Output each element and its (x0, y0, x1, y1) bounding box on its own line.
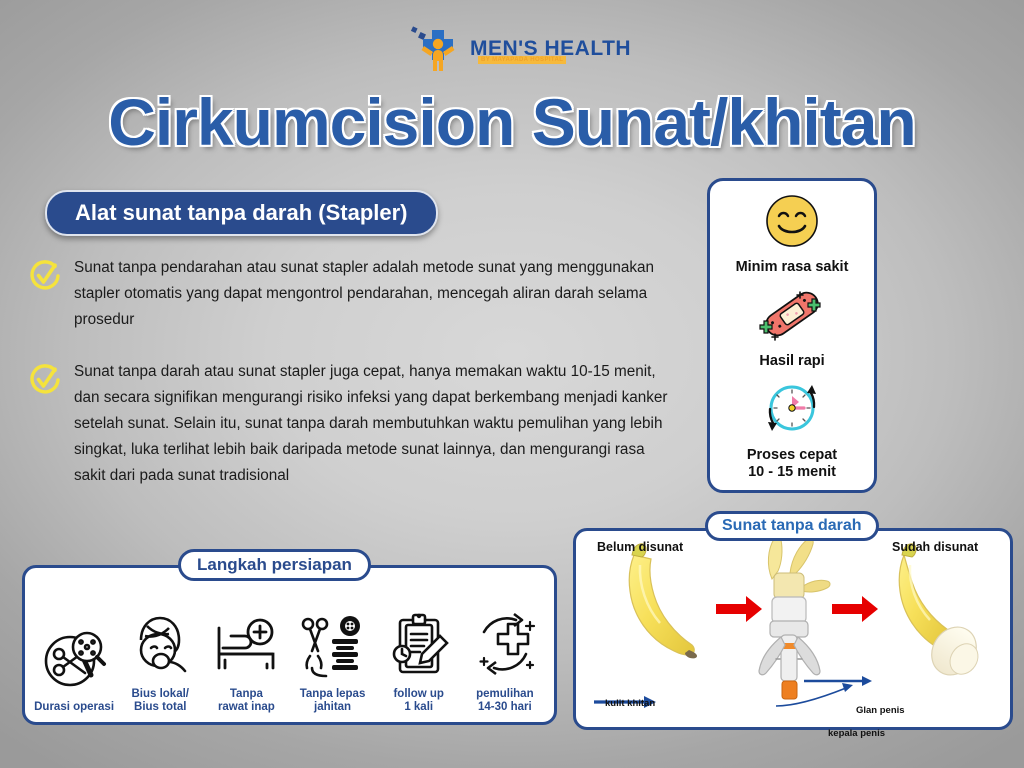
surgery-tools-magnifier-icon (39, 621, 109, 695)
prep-item: Durasi operasi (32, 621, 116, 714)
benefit-item: Minim rasa sakit (736, 191, 849, 276)
poster-canvas: MEN'S HEALTH BY MAYAPADA HOSPITAL Cirkum… (0, 0, 1024, 768)
annotation-kulit-khitan: kulit khitan (605, 698, 655, 709)
benefit-item: Hasil rapi (753, 283, 831, 370)
banana-circumcised (899, 544, 985, 684)
preparation-title: Langkah persiapan (178, 549, 371, 581)
clipboard-pen-icon (384, 608, 454, 682)
banana-whole (629, 544, 697, 659)
benefits-card: Minim rasa sakit Has (707, 178, 877, 493)
preparation-panel: Durasi operasi Bius lokal/ Bius total (22, 565, 557, 725)
prep-label: Tanpa lepas jahitan (300, 688, 366, 714)
banana-stapler-device (759, 536, 830, 699)
brand-logo: MEN'S HEALTH BY MAYAPADA HOSPITAL (408, 22, 628, 76)
anesthesia-mask-icon (125, 608, 195, 682)
prep-label: pemulihan 14-30 hari (476, 688, 534, 714)
prep-label: Tanpa rawat inap (218, 688, 275, 714)
list-item: Sunat tanpa darah atau sunat stapler jug… (28, 359, 668, 489)
prep-label: Durasi operasi (34, 701, 114, 714)
benefit-label: Minim rasa sakit (736, 259, 849, 276)
prep-label: Bius lokal/ Bius total (131, 688, 189, 714)
comparison-title: Sunat tanpa darah (705, 511, 879, 541)
prep-label: follow up 1 kali (393, 688, 443, 714)
arrow-right-icon-2 (832, 596, 878, 622)
hospital-bed-icon (211, 608, 281, 682)
medical-cross-recovery-icon (470, 608, 540, 682)
arrow-right-icon-1 (716, 596, 762, 622)
clock-icon (756, 377, 828, 444)
brand-subtitle: BY MAYAPADA HOSPITAL (478, 56, 566, 64)
bullet-list: Sunat tanpa pendarahan atau sunat staple… (28, 255, 668, 515)
check-circle-icon (28, 259, 62, 293)
benefit-label: Hasil rapi (759, 353, 824, 370)
page-title: Cirkumcision Sunat/khitan (0, 84, 1024, 160)
after-label: Sudah disunat (892, 540, 978, 554)
annotation-glan-penis: Glan penis (856, 705, 905, 716)
annotation-kepala-penis: kepala penis (828, 728, 885, 739)
bullet-text: Sunat tanpa pendarahan atau sunat staple… (74, 255, 668, 333)
prep-item: pemulihan 14-30 hari (463, 608, 547, 714)
smiley-face-icon (762, 191, 822, 256)
list-item: Sunat tanpa pendarahan atau sunat staple… (28, 255, 668, 333)
section-banner: Alat sunat tanpa darah (Stapler) (45, 190, 438, 236)
check-circle-icon (28, 363, 62, 397)
scissors-thread-icon (298, 608, 368, 682)
benefit-label: Proses cepat 10 - 15 menit (747, 447, 837, 481)
before-label: Belum disunat (597, 540, 683, 554)
bandage-icon (753, 283, 831, 350)
prep-item: Tanpa lepas jahitan (291, 608, 375, 714)
prep-item: follow up 1 kali (377, 608, 461, 714)
sparkle-icon (411, 26, 426, 40)
prep-item: Tanpa rawat inap (204, 608, 288, 714)
bullet-text: Sunat tanpa darah atau sunat stapler jug… (74, 359, 668, 489)
benefit-item: Proses cepat 10 - 15 menit (747, 377, 837, 481)
section-banner-label: Alat sunat tanpa darah (Stapler) (75, 200, 408, 225)
prep-item: Bius lokal/ Bius total (118, 608, 202, 714)
logo-mark (408, 24, 466, 74)
